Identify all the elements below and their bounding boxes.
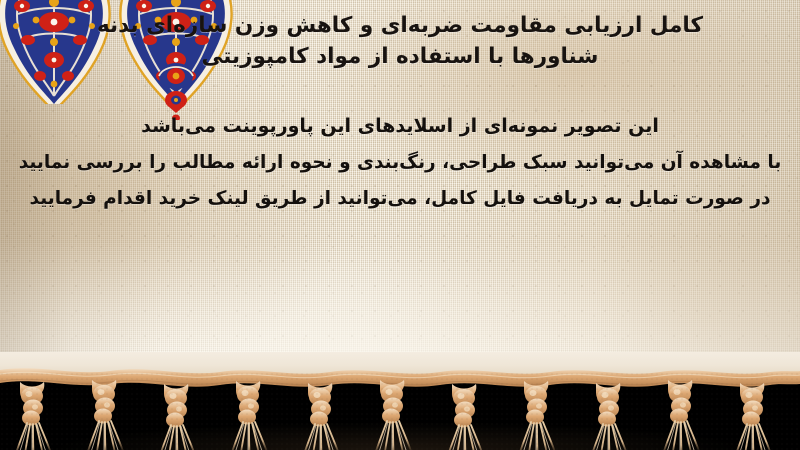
page-title: کامل ارزیابی مقاومت ضربه‌ای و کاهش وزن س… [14, 10, 786, 72]
slide-body-text: این تصویر نمونه‌ای از اسلایدهای این پاور… [14, 108, 786, 217]
title-line: کامل ارزیابی مقاومت ضربه‌ای و کاهش وزن س… [14, 10, 786, 41]
slide-canvas: کامل ارزیابی مقاومت ضربه‌ای و کاهش وزن س… [0, 0, 800, 450]
body-line-1: این تصویر نمونه‌ای از اسلایدهای این پاور… [14, 108, 786, 145]
body-line-3: در صورت تمایل به دریافت فایل کامل، می‌تو… [14, 181, 786, 217]
fringe-tassels-icon [0, 352, 800, 450]
title-line: شناورها با استفاده از مواد کامپوزیتی [14, 41, 786, 72]
carpet-fringe-band [0, 352, 800, 450]
body-line-2: با مشاهده آن می‌توانید سبک طراحی، رنگ‌بن… [14, 145, 786, 181]
slide-text-layer: کامل ارزیابی مقاومت ضربه‌ای و کاهش وزن س… [0, 0, 800, 388]
